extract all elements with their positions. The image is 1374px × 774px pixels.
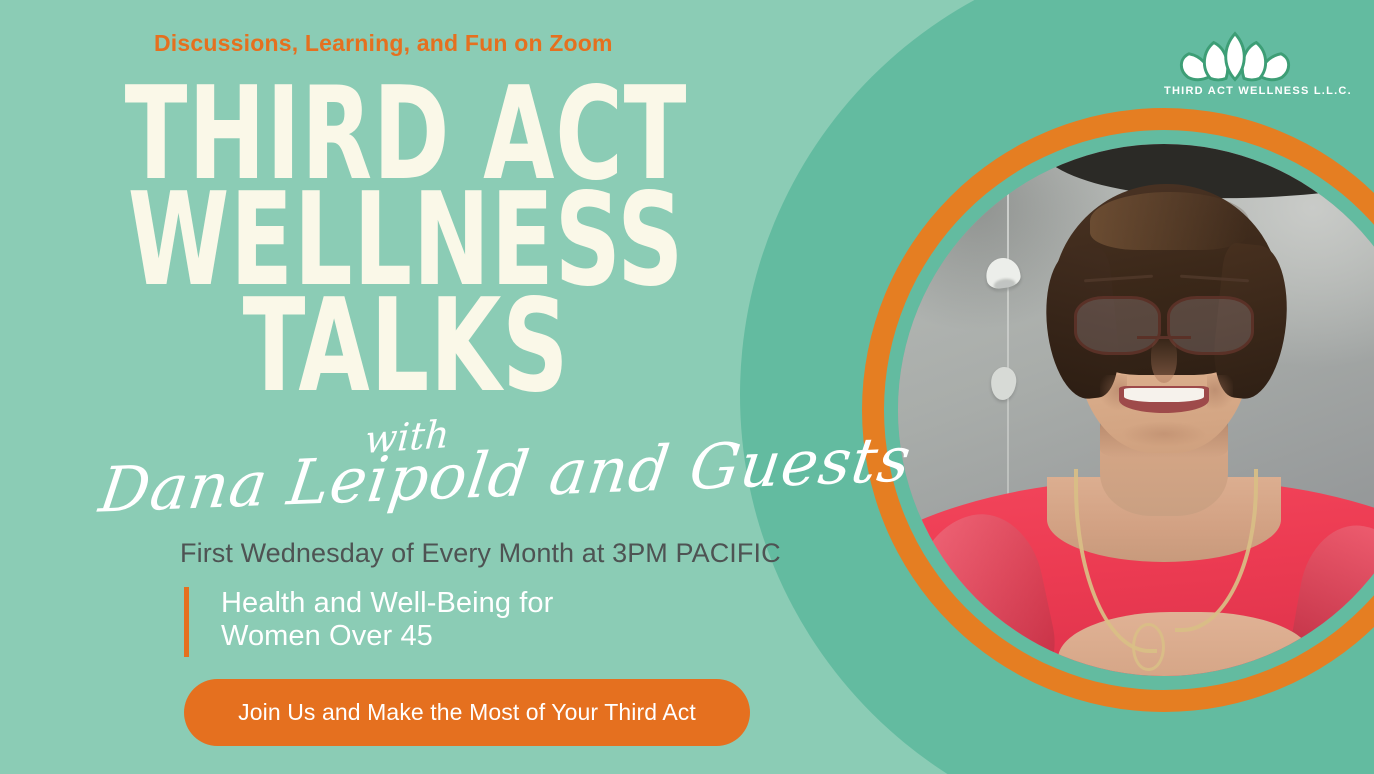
schedule-text: First Wednesday of Every Month at 3PM PA…	[180, 538, 781, 569]
subtitle: Health and Well-Being for Women Over 45	[221, 587, 553, 653]
page-title: THIRD ACT WELLNESS TALKS	[81, 82, 731, 401]
lotus-flower-icon	[1164, 28, 1306, 84]
hair-highlight	[1090, 192, 1250, 251]
glasses-lens-right	[1167, 296, 1254, 355]
logo-wordmark: THIRD ACT WELLNESS L.L.C.	[1164, 85, 1306, 97]
glasses-lens-left	[1074, 296, 1161, 355]
smile-line-right	[1207, 375, 1234, 412]
portrait-image	[898, 144, 1374, 676]
subtitle-line-2: Women Over 45	[221, 620, 553, 653]
promo-graphic: THIRD ACT WELLNESS L.L.C. Discussions, L…	[0, 0, 1374, 774]
teeth	[1124, 388, 1204, 402]
brand-logo: THIRD ACT WELLNESS L.L.C.	[1164, 28, 1306, 110]
chin-shadow	[1121, 421, 1206, 448]
tagline: Discussions, Learning, and Fun on Zoom	[154, 30, 613, 57]
person-figure	[898, 144, 1374, 676]
host-names: Dana Leipold and Guests	[95, 430, 705, 526]
smiling-mouth	[1119, 386, 1209, 413]
orange-accent-bar	[184, 587, 189, 657]
join-cta-button[interactable]: Join Us and Make the Most of Your Third …	[184, 679, 750, 746]
necklace-pendant	[1132, 623, 1165, 672]
subtitle-block: Health and Well-Being for Women Over 45	[184, 587, 553, 657]
host-portrait-photo	[898, 144, 1374, 676]
subtitle-line-1: Health and Well-Being for	[221, 587, 553, 620]
